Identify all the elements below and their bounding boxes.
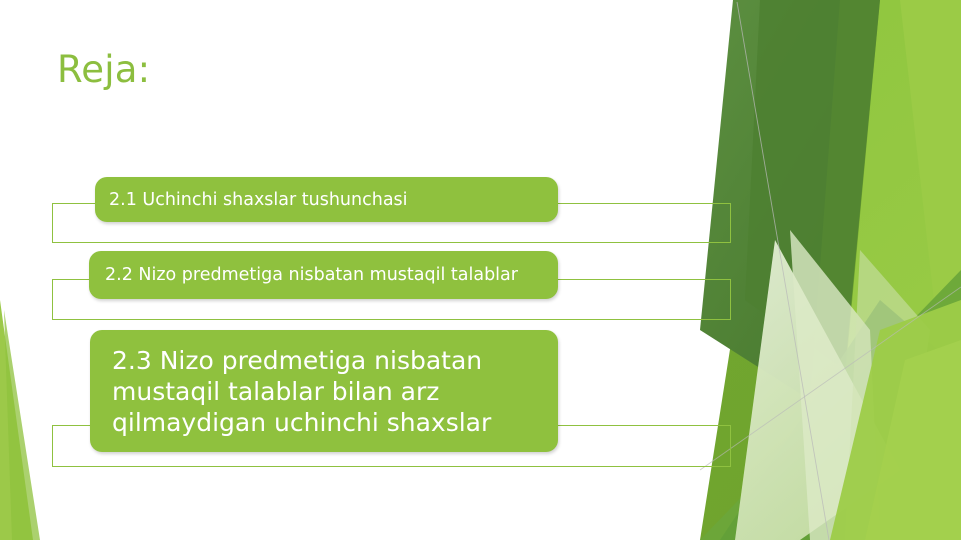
deco-shape-bottom-bright-2 bbox=[865, 340, 961, 540]
deco-shape-pale-1 bbox=[735, 240, 900, 540]
agenda-item-2-label: 2.2 Nizo predmetiga nisbatan mustaqil ta… bbox=[105, 264, 518, 286]
slide: Reja: 2.1 Uchinchi shaxslar tushunchasi … bbox=[0, 0, 961, 540]
agenda-item-1-label: 2.1 Uchinchi shaxslar tushunchasi bbox=[109, 189, 408, 211]
deco-shape-right-bright-2 bbox=[770, 0, 961, 540]
agenda-item-1[interactable]: 2.1 Uchinchi shaxslar tushunchasi bbox=[95, 177, 558, 222]
agenda-item-2[interactable]: 2.2 Nizo predmetiga nisbatan mustaqil ta… bbox=[89, 251, 558, 299]
deco-shape-right-bright bbox=[830, 0, 961, 540]
deco-shape-pale-2 bbox=[790, 230, 880, 540]
deco-hairline-2 bbox=[700, 287, 961, 470]
page-title: Reja: bbox=[57, 48, 150, 92]
deco-shape-dark-2 bbox=[745, 0, 880, 370]
deco-shape-bottom-left-2 bbox=[4, 310, 40, 540]
deco-shape-bottom-bright bbox=[830, 300, 961, 540]
deco-shape-lower-diagonal bbox=[700, 270, 961, 540]
deco-shape-dark bbox=[700, 0, 840, 400]
agenda-item-3-label: 2.3 Nizo predmetiga nisbatan mustaqil ta… bbox=[112, 345, 536, 438]
deco-shape-lower-diagonal-2 bbox=[720, 300, 961, 540]
agenda-item-3[interactable]: 2.3 Nizo predmetiga nisbatan mustaqil ta… bbox=[90, 330, 558, 452]
deco-shape-bottom-left bbox=[0, 300, 33, 540]
deco-shape-pale-3 bbox=[845, 250, 930, 540]
deco-hairline-1 bbox=[737, 2, 829, 540]
